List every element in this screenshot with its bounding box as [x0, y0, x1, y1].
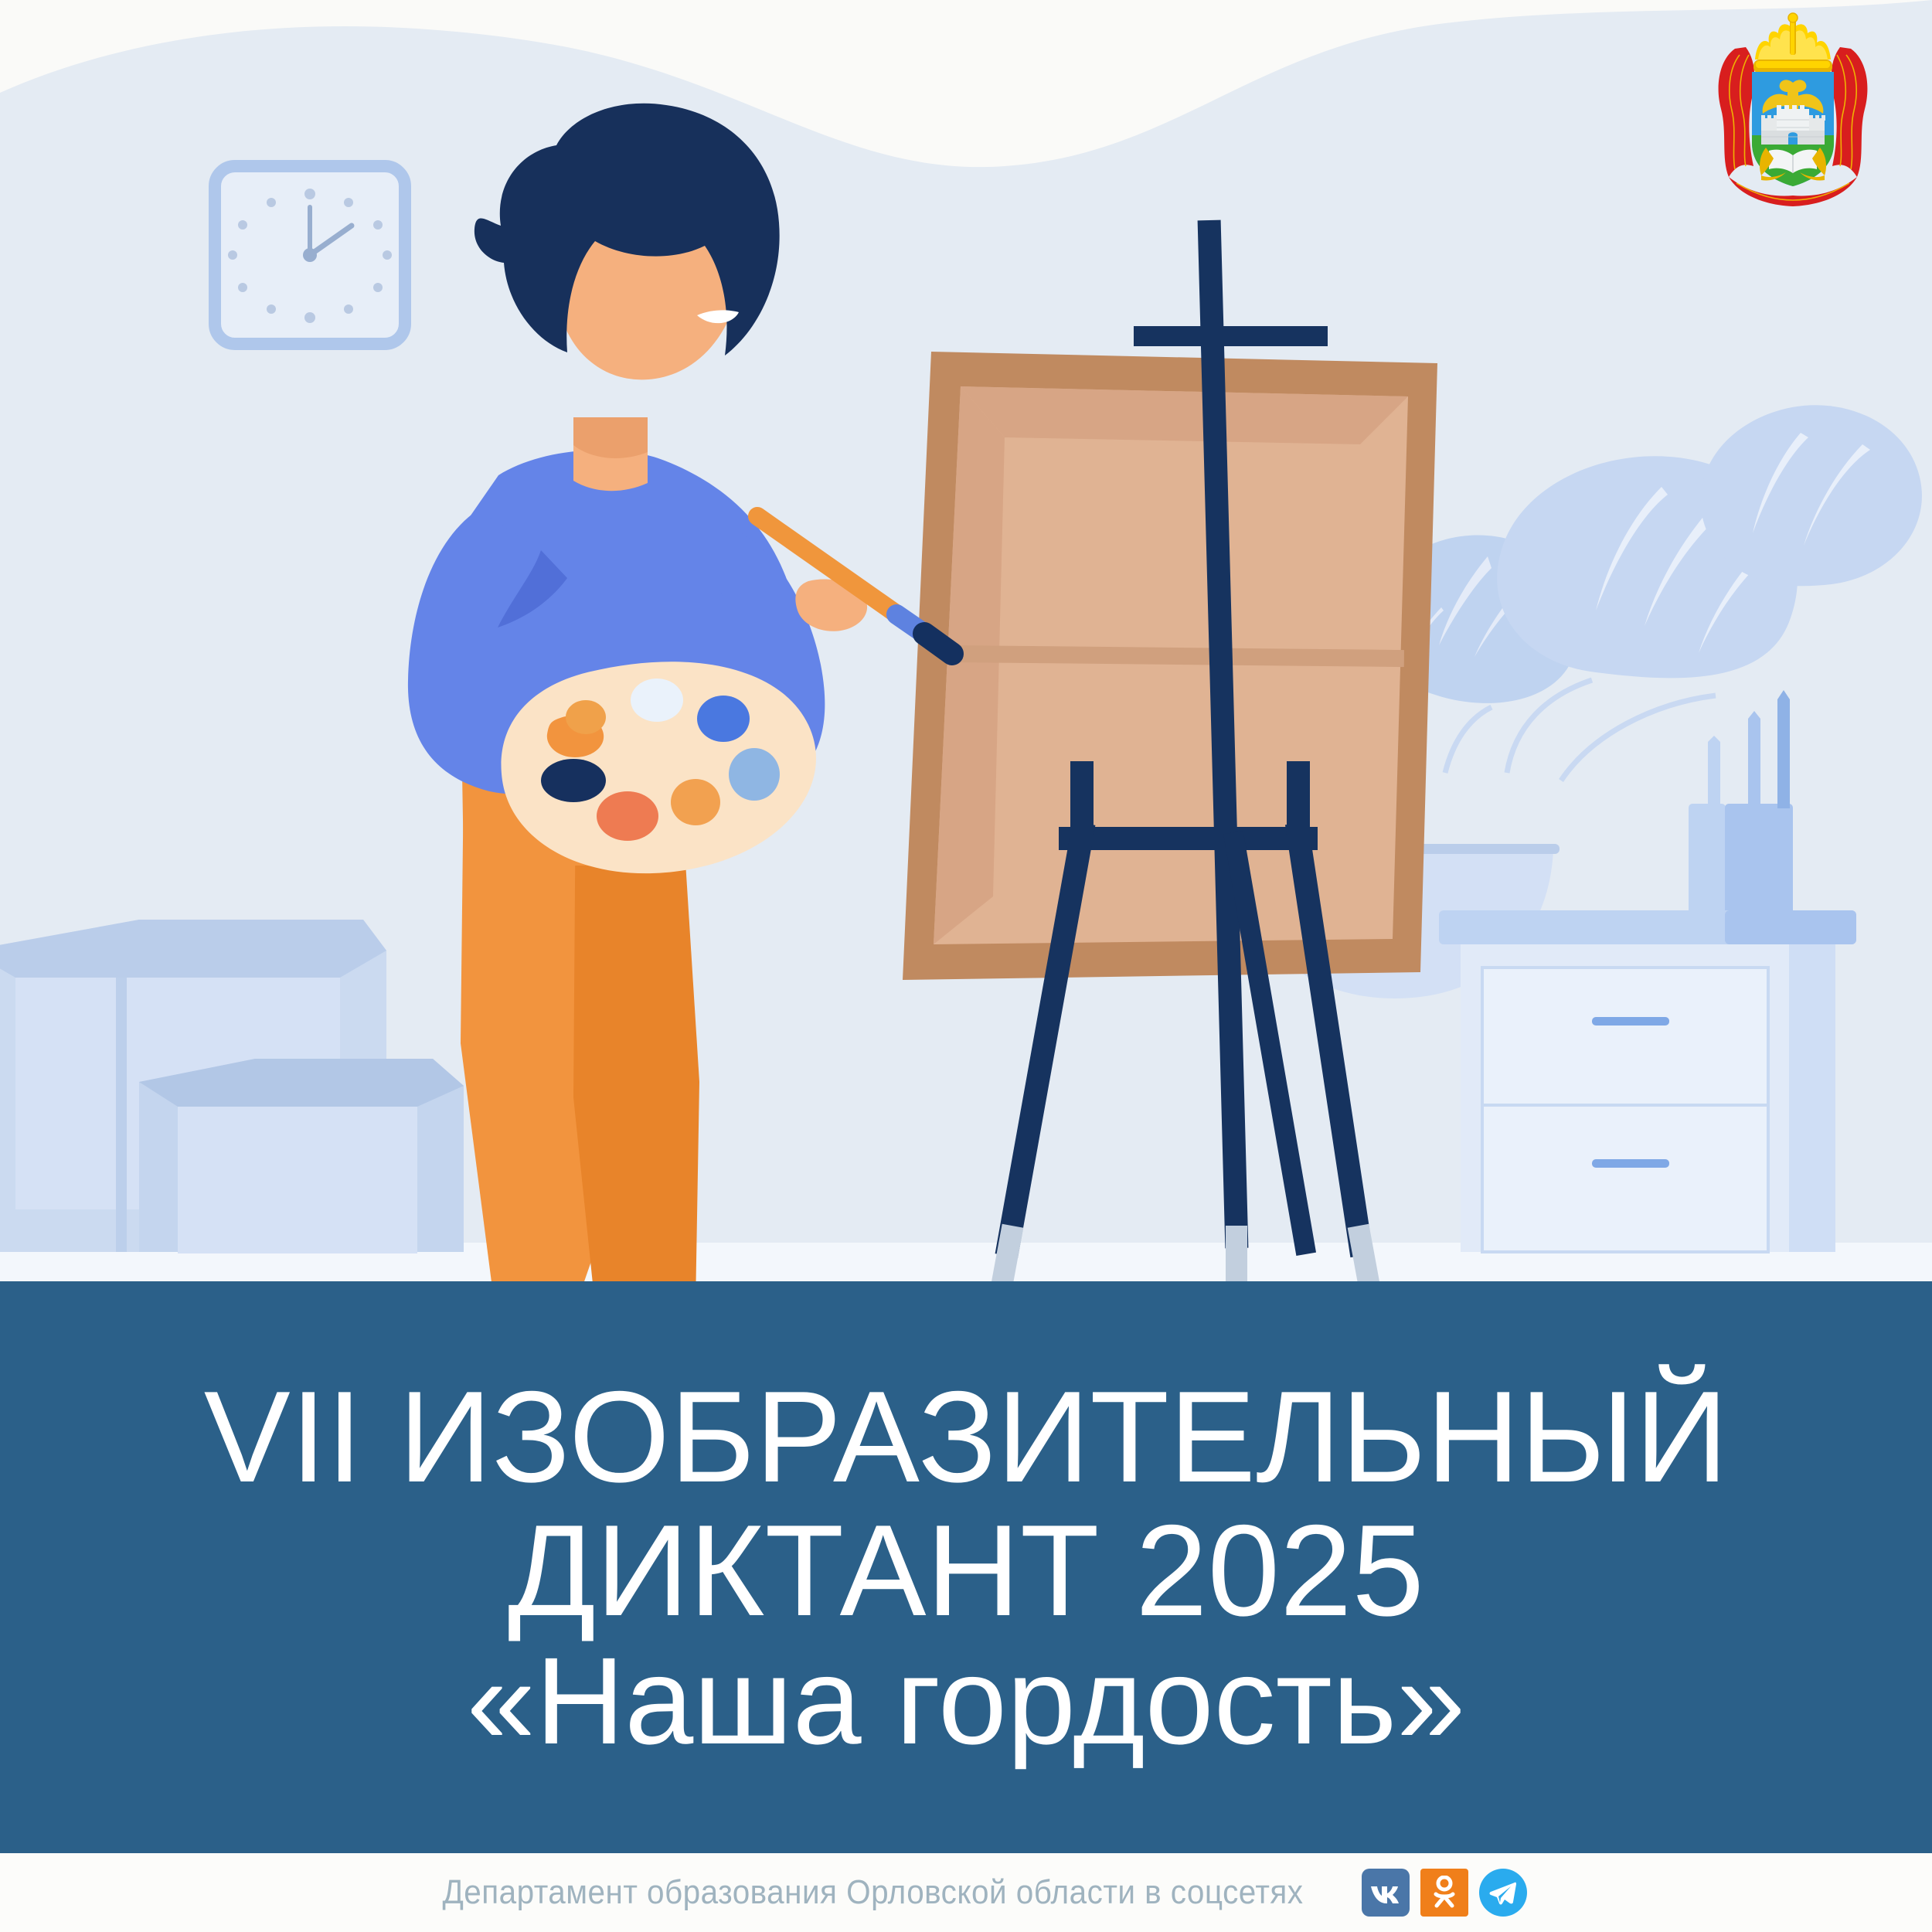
wall-clock [215, 166, 405, 344]
banner-title-line-2: ДИКТАНТ 2025 [85, 1504, 1847, 1638]
telegram-icon[interactable] [1479, 1869, 1527, 1917]
footer-bar: Департамент образования Орловской област… [0, 1853, 1932, 1932]
banner-title-line-1: VII ИЗОБРАЗИТЕЛЬНЫЙ [85, 1370, 1847, 1504]
vk-icon[interactable] [1362, 1869, 1410, 1917]
canvas-on-easel [903, 352, 1437, 980]
poster-root: VII ИЗОБРАЗИТЕЛЬНЫЙ ДИКТАНТ 2025 «Наша г… [0, 0, 1932, 1932]
banner-title: VII ИЗОБРАЗИТЕЛЬНЫЙ ДИКТАНТ 2025 «Наша г… [85, 1370, 1847, 1765]
banner-title-line-3: «Наша гордость» [85, 1638, 1847, 1765]
coat-of-arms-oryol-oblast [1712, 12, 1874, 213]
ok-icon[interactable] [1420, 1869, 1468, 1917]
crown [1753, 13, 1832, 73]
illustration-scene [0, 0, 1932, 1314]
shield [1752, 72, 1834, 186]
title-banner: VII ИЗОБРАЗИТЕЛЬНЫЙ ДИКТАНТ 2025 «Наша г… [0, 1281, 1932, 1853]
side-cabinet [1439, 910, 1856, 1252]
footer-text: Департамент образования Орловской област… [442, 1873, 1303, 1912]
social-links [1362, 1869, 1527, 1917]
